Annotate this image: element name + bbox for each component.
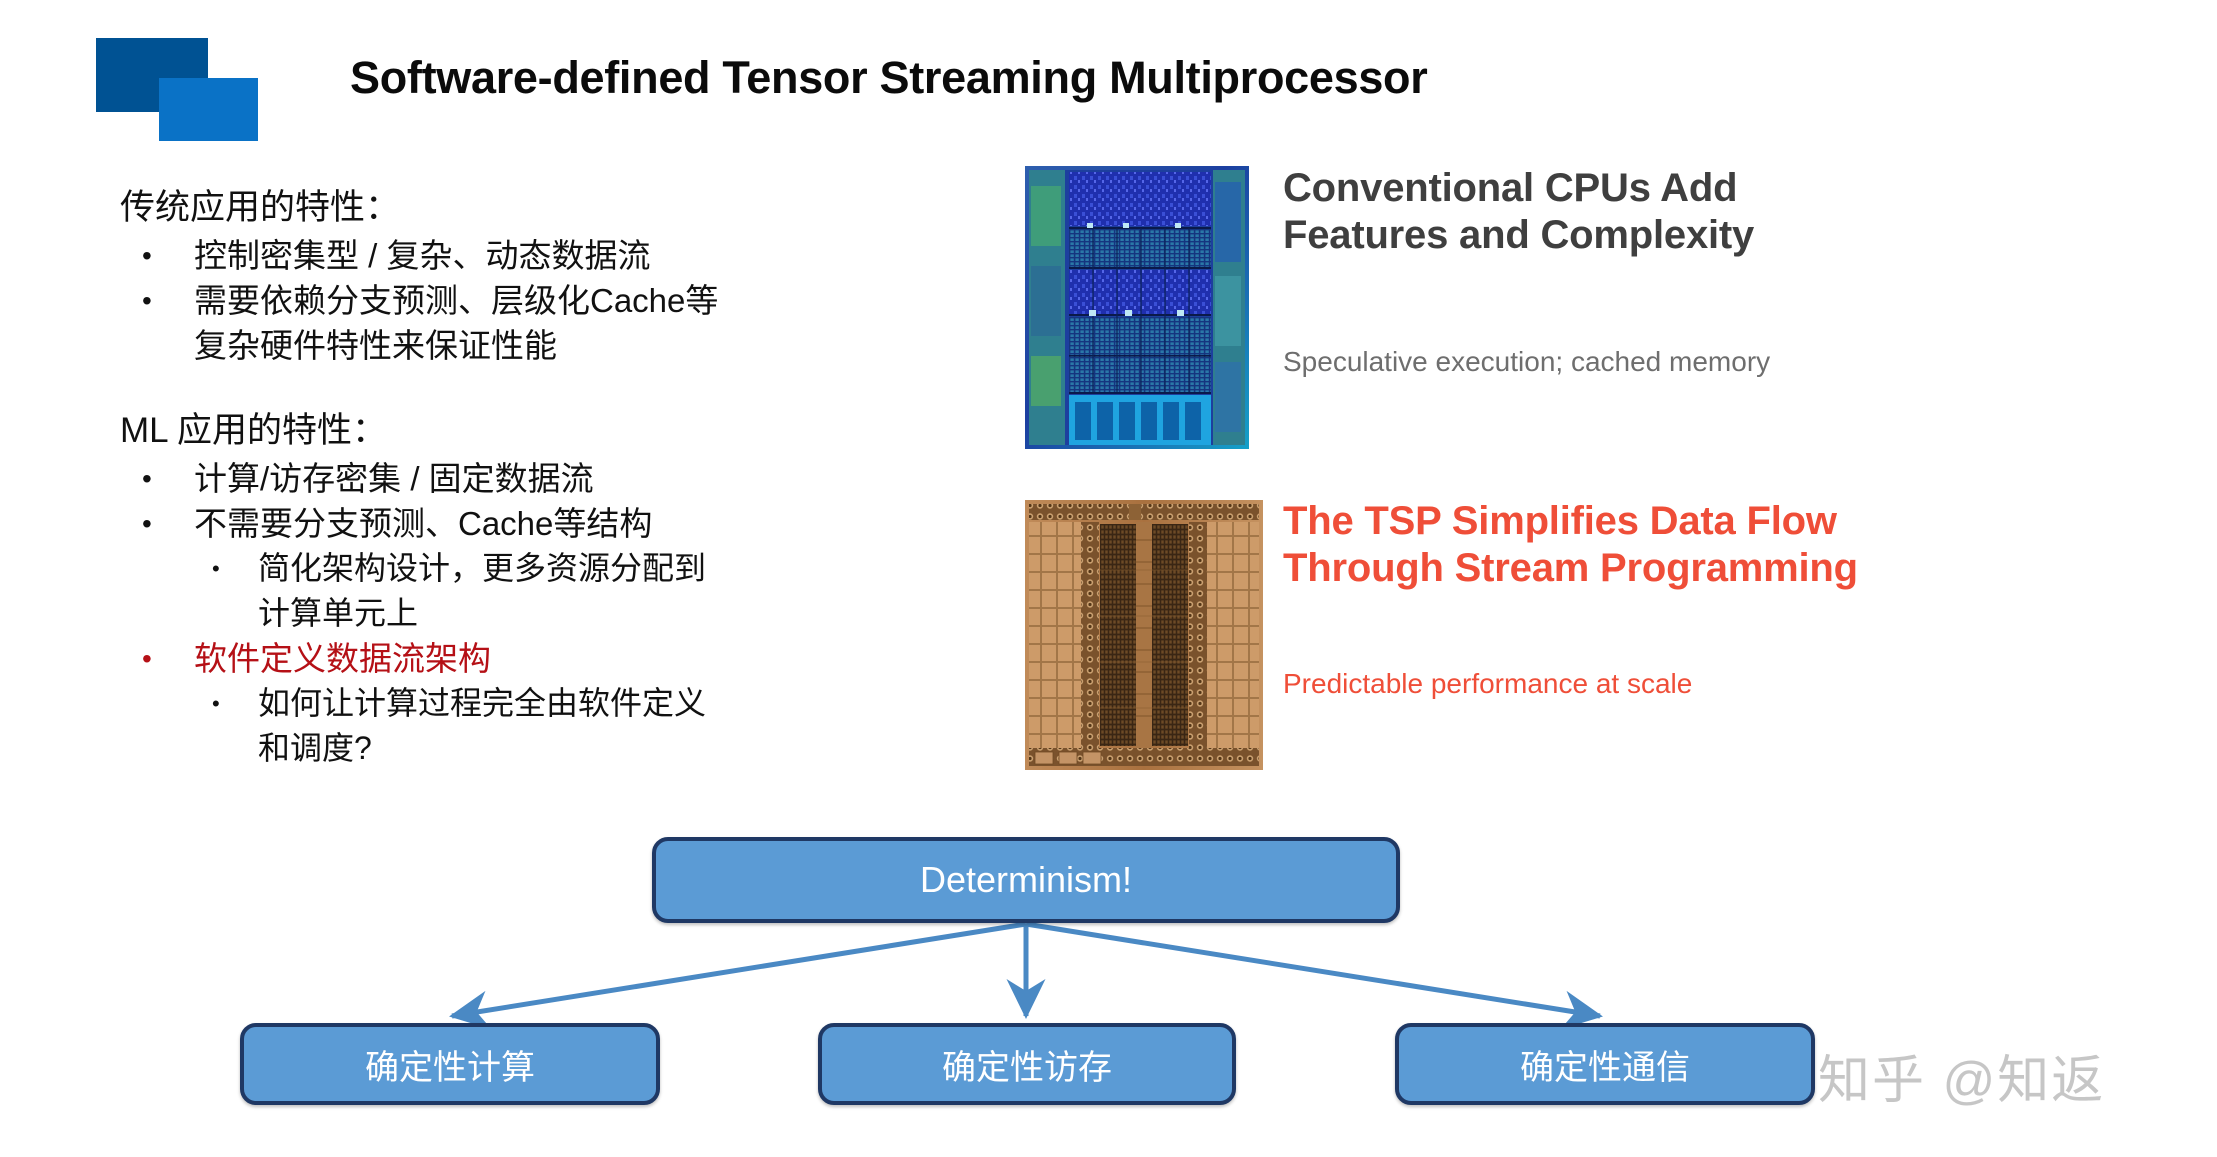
bullet-label: 不需要分支预测、Cache等结构 [194,501,652,546]
logo-square-light [159,78,258,141]
arrow-to-communication [1026,924,1600,1016]
flow-box-determinism[interactable]: Determinism! [652,837,1400,923]
page-title: Software-defined Tensor Streaming Multip… [350,52,1427,104]
flow-box-label: 确定性访存 [942,1040,1112,1089]
flow-box-deterministic-memory[interactable]: 确定性访存 [818,1023,1236,1105]
zhihu-watermark: 知乎 @知返 [1818,1038,2105,1113]
bullet-label: 复杂硬件特性来保证性能 [194,323,557,368]
arrow-to-compute [452,924,1026,1016]
flow-box-label: Determinism! [920,859,1132,901]
section-heading-ml: ML 应用的特性： [120,408,880,454]
sub-bullet-item-continuation: 计算单元上 [120,591,880,636]
cpu-section-subtitle: Speculative execution; cached memory [1283,344,1770,380]
tsp-section-heading: The TSP Simplifies Data Flow Through Str… [1283,498,2113,592]
tsp-heading-line1: The TSP Simplifies Data Flow [1283,498,2113,545]
bullet-label: 和调度? [258,726,372,771]
bullet-marker: • [212,681,258,726]
flow-box-deterministic-compute[interactable]: 确定性计算 [240,1023,660,1105]
bullet-marker: • [142,456,194,501]
cpu-heading-line2: Features and Complexity [1283,212,2063,259]
bullet-label: 简化架构设计，更多资源分配到 [258,546,706,591]
cpu-heading-line1: Conventional CPUs Add [1283,165,2063,212]
cpu-section-heading: Conventional CPUs Add Features and Compl… [1283,165,2063,259]
bullet-label: 软件定义数据流架构 [194,636,491,681]
bullet-item-continuation: 复杂硬件特性来保证性能 [120,323,880,368]
bullet-marker: • [142,501,194,546]
bullet-item: • 需要依赖分支预测、层级化Cache等 [120,278,880,323]
bullet-marker: • [212,546,258,591]
bullet-label: 需要依赖分支预测、层级化Cache等 [194,278,718,323]
conventional-cpu-die-photo [1025,166,1249,449]
tsp-section-subtitle: Predictable performance at scale [1283,666,1692,702]
bullet-marker: • [142,233,194,278]
bullet-label: 控制密集型 / 复杂、动态数据流 [194,233,651,278]
bullet-marker: • [142,636,194,681]
bullet-item: • 不需要分支预测、Cache等结构 [120,501,880,546]
sub-bullet-item: • 简化架构设计，更多资源分配到 [120,546,880,591]
bullet-item: • 控制密集型 / 复杂、动态数据流 [120,233,880,278]
flow-box-label: 确定性通信 [1520,1040,1690,1089]
section-spacer [120,368,880,408]
brand-logo [96,38,268,144]
sub-bullet-item-continuation: 和调度? [120,726,880,771]
bullet-marker: • [142,278,194,323]
slide-canvas: Software-defined Tensor Streaming Multip… [0,0,2217,1157]
bullet-label: 计算/访存密集 / 固定数据流 [194,456,594,501]
bullet-label: 计算单元上 [258,591,418,636]
flow-box-deterministic-communication[interactable]: 确定性通信 [1395,1023,1815,1105]
section-heading-traditional: 传统应用的特性： [120,185,880,231]
bullet-item-highlight: • 软件定义数据流架构 [120,636,880,681]
tsp-heading-line2: Through Stream Programming [1283,545,2113,592]
bullet-label: 如何让计算过程完全由软件定义 [258,681,706,726]
left-text-column: 传统应用的特性： • 控制密集型 / 复杂、动态数据流 • 需要依赖分支预测、层… [120,185,880,771]
sub-bullet-item: • 如何让计算过程完全由软件定义 [120,681,880,726]
tsp-die-photo [1025,500,1263,770]
bullet-item: • 计算/访存密集 / 固定数据流 [120,456,880,501]
flow-box-label: 确定性计算 [365,1040,535,1089]
